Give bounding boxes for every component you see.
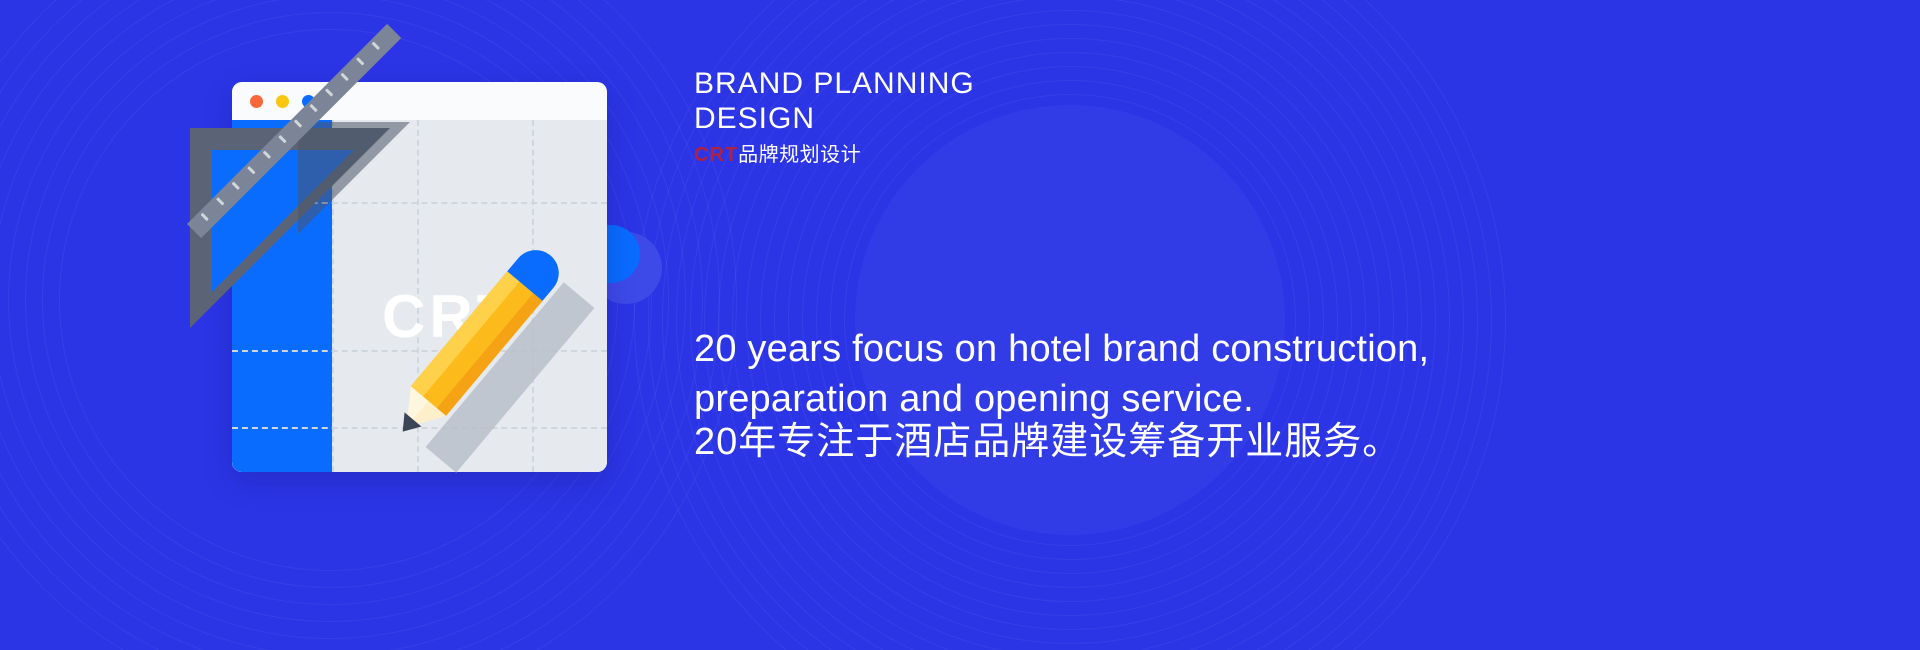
close-dot-icon[interactable] bbox=[250, 95, 263, 108]
banner-content: BRAND PLANNING DESIGN CRT品牌规划设计 20 years… bbox=[694, 0, 1794, 650]
ruler-tick bbox=[232, 182, 240, 190]
subtitle: CRT品牌规划设计 bbox=[694, 138, 861, 167]
ruler-tick bbox=[356, 57, 364, 65]
ruler-tick bbox=[263, 150, 271, 158]
ruler-tick bbox=[309, 104, 317, 112]
ruler-tick bbox=[372, 42, 380, 50]
hero-illustration: CRT bbox=[190, 60, 690, 480]
ruler-tick bbox=[247, 166, 255, 174]
ruler-shading bbox=[298, 122, 410, 234]
ruler-tick bbox=[200, 213, 208, 221]
minimize-dot-icon[interactable] bbox=[276, 95, 289, 108]
window-titlebar bbox=[232, 82, 607, 120]
ruler-tick bbox=[325, 88, 333, 96]
ruler-tick bbox=[216, 197, 224, 205]
subtitle-chinese: 品牌规划设计 bbox=[738, 144, 861, 166]
hero-banner: CRT bbox=[0, 0, 1920, 650]
ruler-tick bbox=[294, 119, 302, 127]
triangle-ruler-icon bbox=[190, 128, 390, 328]
page-title: BRAND PLANNING DESIGN bbox=[694, 66, 975, 137]
ruler-tick bbox=[278, 135, 286, 143]
ruler-tick bbox=[340, 73, 348, 81]
subtitle-brand: CRT bbox=[694, 144, 738, 166]
tagline-chinese: 20年专注于酒店品牌建设筹备开业服务。 bbox=[694, 410, 1401, 465]
